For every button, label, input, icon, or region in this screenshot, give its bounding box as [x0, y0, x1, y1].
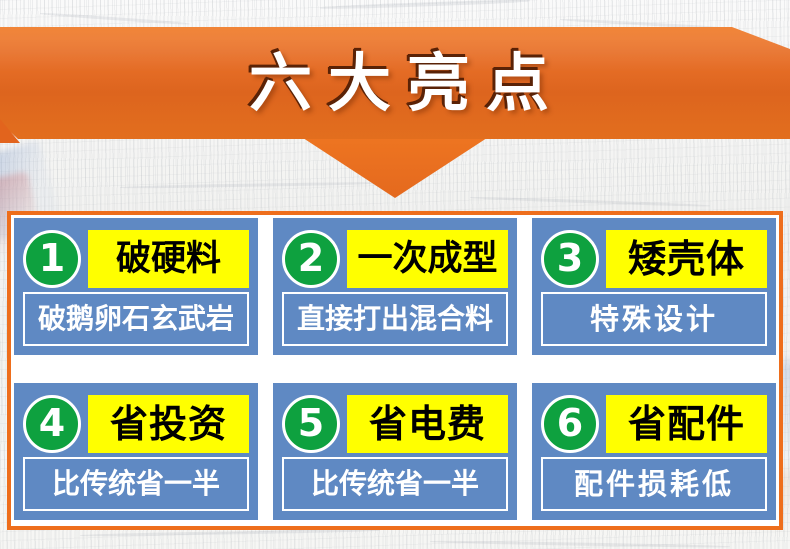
- banner-title-container: 六大亮点: [0, 27, 790, 139]
- number-badge-icon: 6: [541, 395, 599, 453]
- feature-subtitle: 比传统省一半: [23, 457, 249, 511]
- feature-title: 省电费: [347, 395, 508, 453]
- feature-title: 省投资: [88, 395, 249, 453]
- number-badge-icon: 1: [23, 230, 81, 288]
- header-banner: 六大亮点: [0, 27, 790, 177]
- feature-subtitle: 直接打出混合料: [282, 292, 508, 346]
- feature-card-5[interactable]: 5 省电费 比传统省一半: [273, 383, 517, 520]
- feature-card-6[interactable]: 6 省配件 配件损耗低: [532, 383, 776, 520]
- feature-card-1[interactable]: 1 破硬料 破鹅卵石玄武岩: [14, 218, 258, 355]
- card-header: 6 省配件: [541, 391, 767, 457]
- features-grid: 1 破硬料 破鹅卵石玄武岩 2 一次成型 直接打出混合料 3 矮壳体 特殊设计 …: [14, 218, 776, 523]
- card-header: 2 一次成型: [282, 226, 508, 292]
- feature-subtitle: 比传统省一半: [282, 457, 508, 511]
- feature-title: 一次成型: [347, 230, 508, 288]
- feature-card-3[interactable]: 3 矮壳体 特殊设计: [532, 218, 776, 355]
- number-badge-icon: 2: [282, 230, 340, 288]
- feature-title: 矮壳体: [606, 230, 767, 288]
- card-header: 1 破硬料: [23, 226, 249, 292]
- feature-subtitle: 配件损耗低: [541, 457, 767, 511]
- card-header: 4 省投资: [23, 391, 249, 457]
- feature-subtitle: 破鹅卵石玄武岩: [23, 292, 249, 346]
- card-header: 3 矮壳体: [541, 226, 767, 292]
- number-badge-icon: 5: [282, 395, 340, 453]
- number-badge-icon: 3: [541, 230, 599, 288]
- feature-subtitle: 特殊设计: [541, 292, 767, 346]
- feature-title: 破硬料: [88, 230, 249, 288]
- card-header: 5 省电费: [282, 391, 508, 457]
- number-badge-icon: 4: [23, 395, 81, 453]
- page-title: 六大亮点: [233, 52, 565, 115]
- feature-title: 省配件: [606, 395, 767, 453]
- feature-card-4[interactable]: 4 省投资 比传统省一半: [14, 383, 258, 520]
- feature-card-2[interactable]: 2 一次成型 直接打出混合料: [273, 218, 517, 355]
